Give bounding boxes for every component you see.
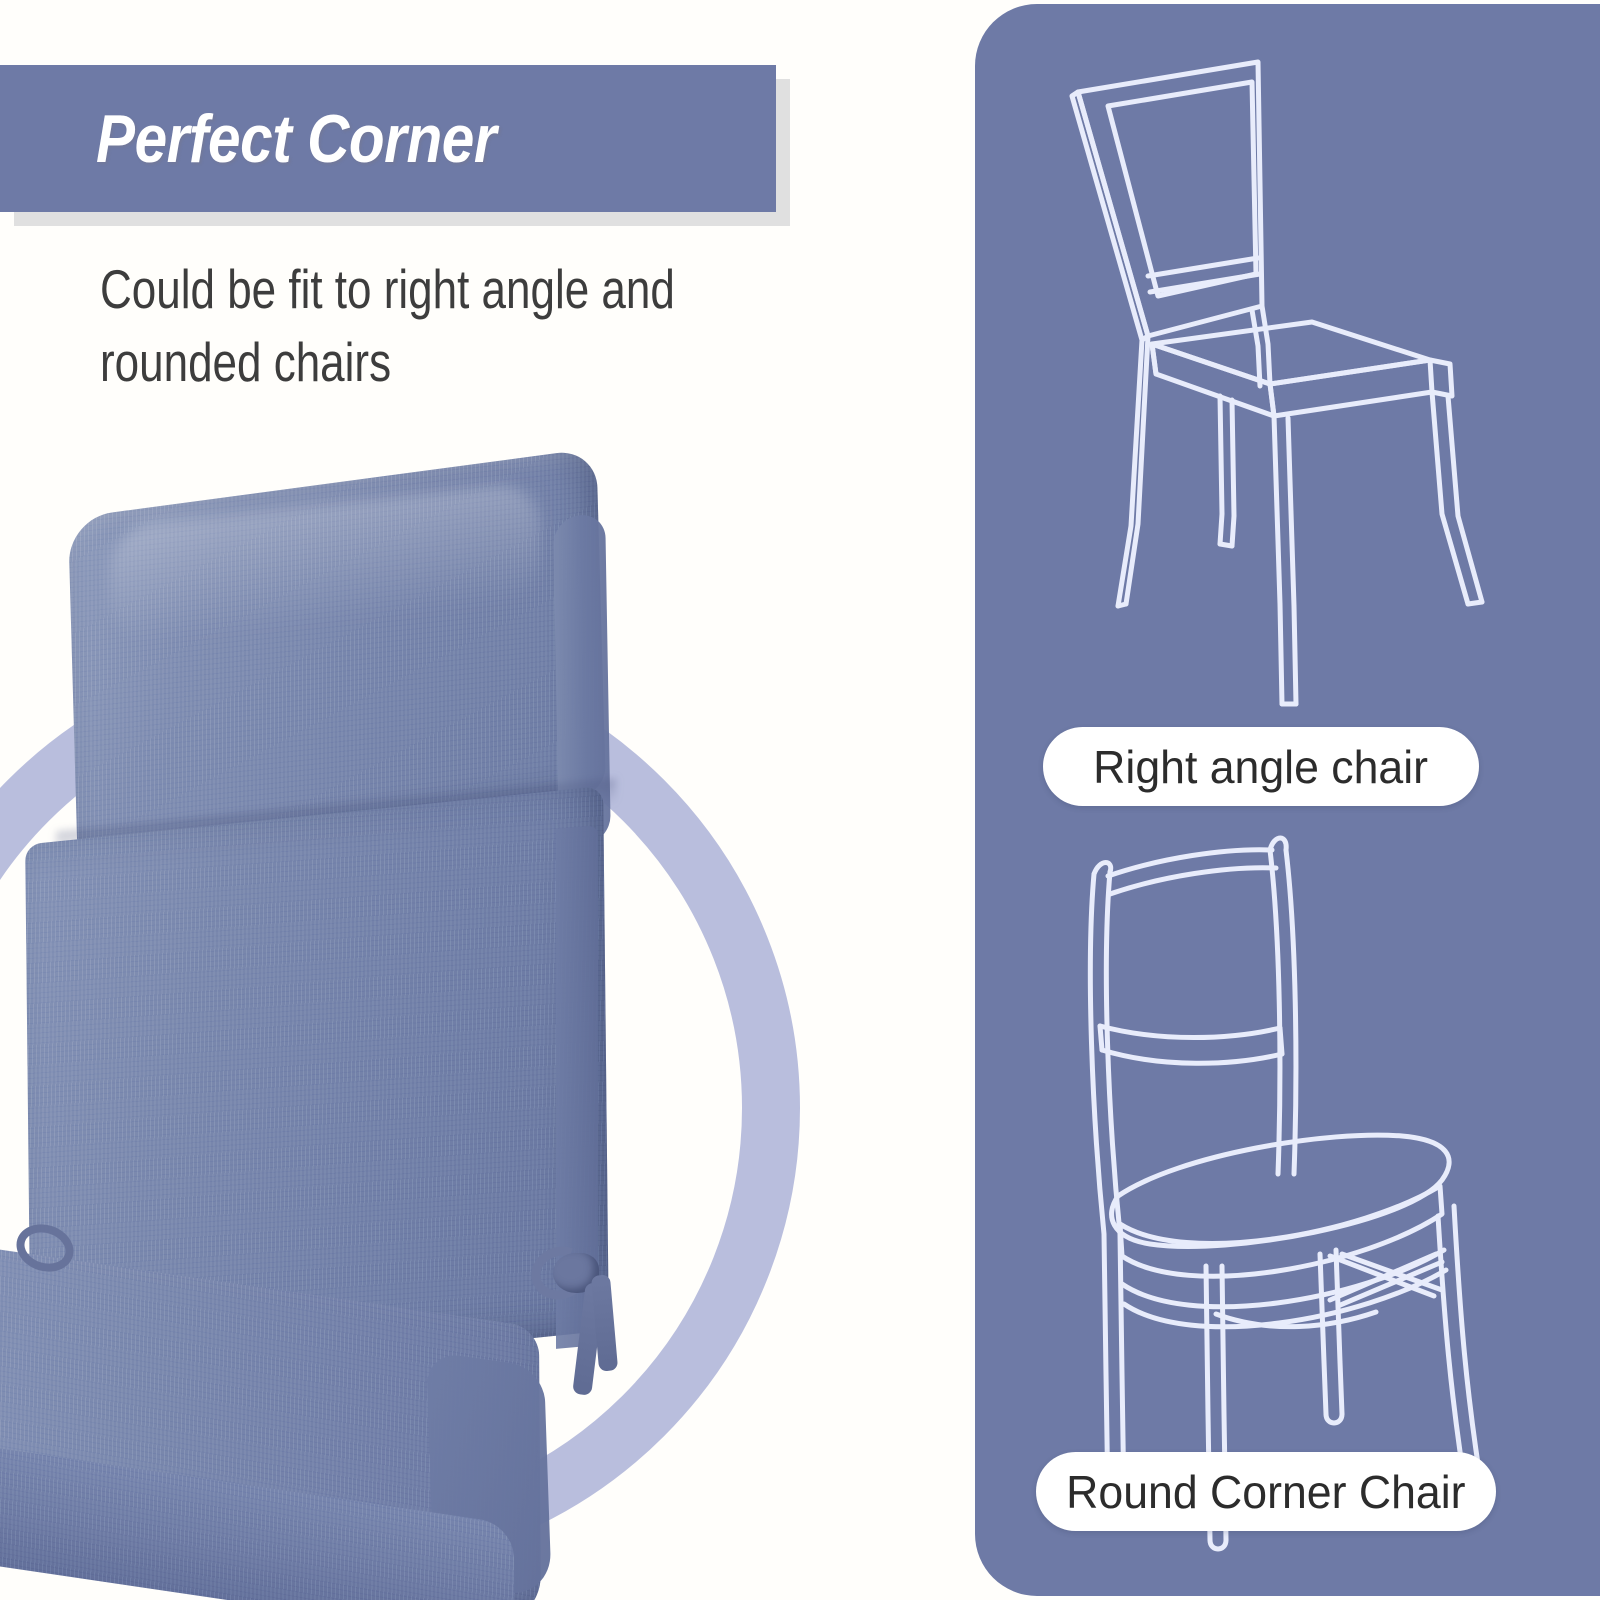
label-text: Right angle chair xyxy=(1094,740,1429,794)
title-banner: Perfect Corner xyxy=(0,65,790,225)
page-title: Perfect Corner xyxy=(96,100,496,178)
right-angle-chair-icon xyxy=(1030,44,1550,724)
cushion-product-image xyxy=(0,455,700,1585)
infographic-canvas: Perfect Corner Could be fit to right ang… xyxy=(0,0,1600,1600)
banner-fill: Perfect Corner xyxy=(0,65,776,212)
subtitle-text: Could be fit to right angle and rounded … xyxy=(100,253,780,399)
round-corner-chair-icon xyxy=(1030,814,1550,1554)
cushion-tie-loop-left xyxy=(16,1225,76,1269)
label-round-corner-chair[interactable]: Round Corner Chair xyxy=(1036,1452,1496,1531)
cushion-tie-knot-right xyxy=(545,1245,635,1405)
label-right-angle-chair[interactable]: Right angle chair xyxy=(1043,727,1479,806)
label-text: Round Corner Chair xyxy=(1066,1465,1465,1519)
